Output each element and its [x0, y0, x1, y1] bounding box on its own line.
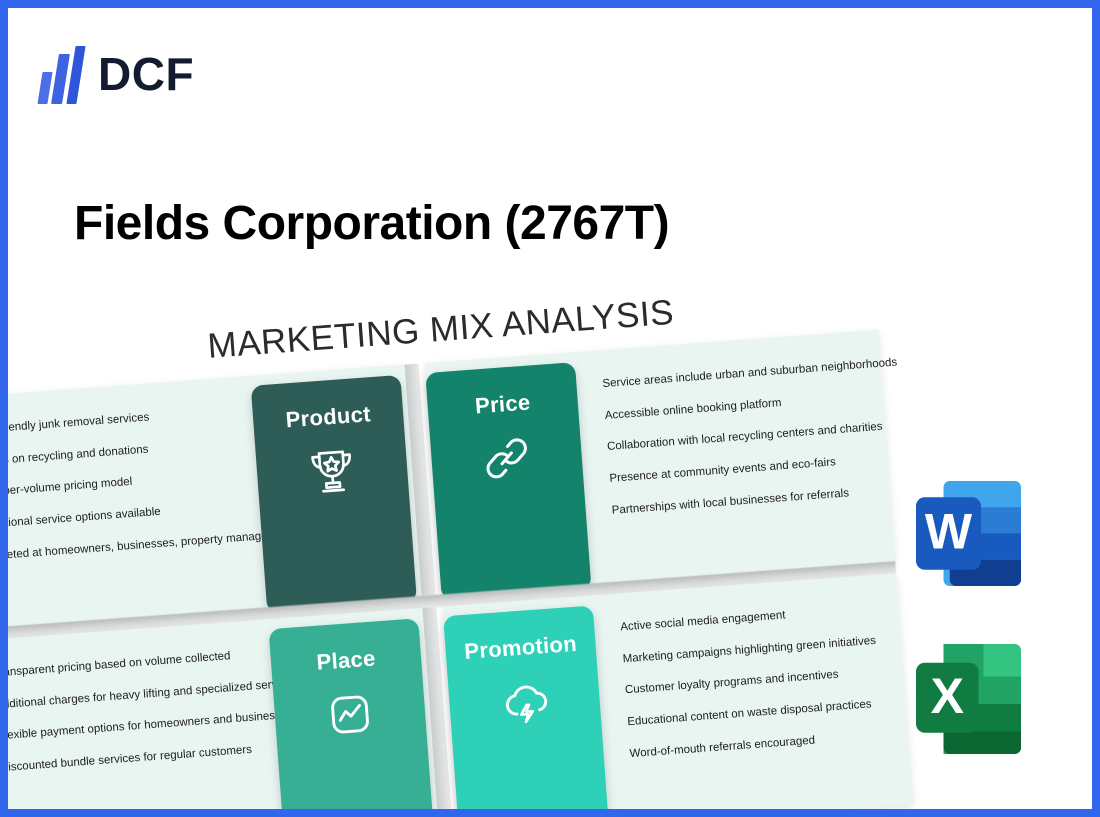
- link-chain-icon: [478, 429, 536, 487]
- quadrant-card-price[interactable]: Price: [425, 362, 591, 600]
- quadrant-label-product: Product: [285, 401, 372, 433]
- quadrant-label-price: Price: [474, 390, 531, 420]
- page-title: Fields Corporation (2767T): [74, 196, 669, 251]
- list-item: Focus on recycling and donations: [0, 434, 271, 468]
- brand-logo: DCF: [40, 44, 194, 104]
- trophy-icon: [303, 442, 361, 500]
- list-item: Additional service options available: [0, 497, 275, 531]
- panel-product: Eco-friendly junk removal services Focus…: [0, 365, 422, 630]
- list-item: Partnerships with local businesses for r…: [611, 483, 907, 517]
- list-item: Word-of-mouth referrals encouraged: [629, 729, 883, 760]
- wave-chart-icon: [321, 686, 379, 744]
- brand-name: DCF: [98, 51, 194, 97]
- quadrant-card-product[interactable]: Product: [251, 375, 417, 613]
- quadrant-label-place: Place: [316, 646, 377, 676]
- panel-promotion: Active social media engagement Marketing…: [442, 573, 913, 817]
- product-bullets: Eco-friendly junk removal services Focus…: [0, 403, 278, 563]
- svg-text:W: W: [925, 504, 973, 560]
- list-item: Additional charges for heavy lifting and…: [0, 677, 298, 712]
- cloud-lightning-icon: [496, 673, 554, 731]
- microsoft-excel-icon[interactable]: X: [906, 639, 1031, 764]
- list-item: Flexible payment options for homeowners …: [0, 708, 300, 743]
- panel-place: Transparent pricing based on volume coll…: [0, 608, 439, 817]
- list-item: Active social media engagement: [620, 603, 874, 634]
- marketing-mix-infographic: MARKETING MIX ANALYSIS Eco-friendly junk…: [0, 292, 914, 817]
- list-item: Marketing campaigns highlighting green i…: [622, 634, 876, 665]
- list-item: Service areas include urban and suburban…: [602, 357, 898, 391]
- panel-price: Service areas include urban and suburban…: [425, 330, 896, 595]
- page-frame: DCF Fields Corporation (2767T) MARKETING…: [0, 0, 1100, 817]
- promotion-bullets: Active social media engagement Marketing…: [620, 603, 883, 760]
- list-item: Educational content on waste disposal pr…: [627, 698, 881, 729]
- list-item: Transparent pricing based on volume coll…: [0, 645, 296, 680]
- bar-chart-logo-icon: [40, 44, 86, 104]
- quadrant-label-promotion: Promotion: [463, 631, 577, 665]
- list-item: Collaboration with local recycling cente…: [607, 420, 903, 454]
- list-item: Presence at community events and eco-fai…: [609, 451, 905, 485]
- quadrant-card-place[interactable]: Place: [269, 618, 435, 817]
- list-item: Discounted bundle services for regular c…: [0, 740, 303, 775]
- list-item: Eco-friendly junk removal services: [0, 403, 268, 437]
- price-bullets: Service areas include urban and suburban…: [602, 357, 907, 517]
- list-item: Pay-per-volume pricing model: [0, 466, 273, 500]
- list-item: Customer loyalty programs and incentives: [625, 666, 879, 697]
- svg-text:X: X: [931, 668, 964, 724]
- list-item: Targeted at homeowners, businesses, prop…: [0, 529, 278, 563]
- microsoft-word-icon[interactable]: W: [906, 471, 1031, 596]
- quadrant-card-promotion[interactable]: Promotion: [443, 605, 609, 817]
- list-item: Accessible online booking platform: [604, 388, 900, 422]
- place-bullets: Transparent pricing based on volume coll…: [0, 645, 303, 774]
